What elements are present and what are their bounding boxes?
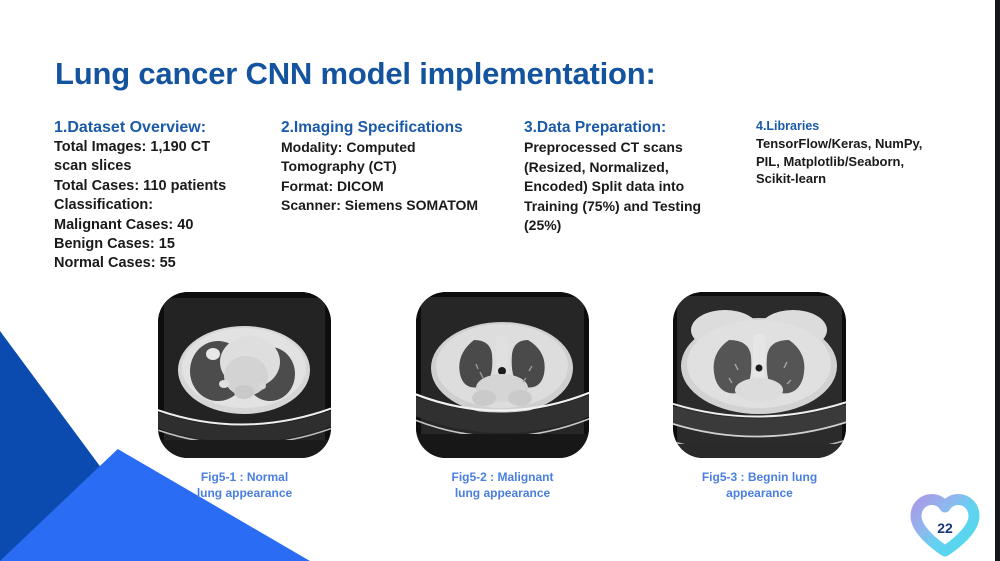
caption-line: Fig5-1 : Normal: [158, 470, 331, 486]
body-line: Total Images: 1,190 CT: [54, 138, 284, 157]
section-imaging-specifications: 2.Imaging Specifications Modality: Compu…: [281, 119, 516, 216]
decor-right-edge-band: [995, 0, 1000, 561]
section-libraries: 4.Libraries TensorFlow/Keras, NumPy, PIL…: [756, 119, 981, 188]
body-line: Benign Cases: 15: [54, 235, 284, 254]
body-line: Malignant Cases: 40: [54, 216, 284, 235]
body-line: Normal Cases: 55: [54, 254, 284, 273]
section-heading: 2.Imaging Specifications: [281, 119, 516, 137]
figure-benign: Fig5-3 : Begnin lung appearance: [673, 292, 846, 501]
body-line: Classification:: [54, 196, 284, 215]
body-line: PIL, Matplotlib/Seaborn,: [756, 153, 981, 171]
body-line: TensorFlow/Keras, NumPy,: [756, 135, 981, 153]
body-line: Tomography (CT): [281, 157, 516, 176]
body-line: Encoded) Split data into: [524, 177, 744, 197]
page-title: Lung cancer CNN model implementation:: [55, 56, 656, 92]
section-data-preparation: 3.Data Preparation: Preprocessed CT scan…: [524, 119, 744, 236]
body-line: Preprocessed CT scans: [524, 138, 744, 158]
ct-scan-image-benign: [673, 292, 846, 458]
caption-line: Fig5-3 : Begnin lung: [673, 470, 846, 486]
body-line: scan slices: [54, 157, 284, 176]
section-heading: 3.Data Preparation:: [524, 119, 744, 137]
section-body: TensorFlow/Keras, NumPy, PIL, Matplotlib…: [756, 135, 981, 188]
section-dataset-overview: 1.Dataset Overview: Total Images: 1,190 …: [54, 119, 284, 274]
ct-scan-image-normal: [158, 292, 331, 458]
body-line: Scikit-learn: [756, 170, 981, 188]
body-line: Modality: Computed: [281, 138, 516, 157]
section-heading: 1.Dataset Overview:: [54, 119, 284, 137]
section-body: Modality: Computed Tomography (CT) Forma…: [281, 138, 516, 216]
section-body: Preprocessed CT scans (Resized, Normaliz…: [524, 138, 744, 236]
figure-caption: Fig5-3 : Begnin lung appearance: [673, 470, 846, 501]
section-heading: 4.Libraries: [756, 119, 981, 133]
body-line: (Resized, Normalized,: [524, 158, 744, 178]
body-line: Format: DICOM: [281, 177, 516, 196]
figure-caption: Fig5-2 : Malignant lung appearance: [416, 470, 589, 501]
body-line: Scanner: Siemens SOMATOM: [281, 196, 516, 215]
figure-caption: Fig5-1 : Normal lung appearance: [158, 470, 331, 501]
body-line: Training (75%) and Testing: [524, 197, 744, 217]
section-body: Total Images: 1,190 CT scan slices Total…: [54, 138, 284, 274]
figure-normal: Fig5-1 : Normal lung appearance: [158, 292, 331, 501]
ct-scan-image-malignant: [416, 292, 589, 458]
page-number: 22: [908, 494, 982, 558]
body-line: (25%): [524, 216, 744, 236]
caption-line: appearance: [673, 486, 846, 502]
caption-line: Fig5-2 : Malignant: [416, 470, 589, 486]
slide-canvas: Lung cancer CNN model implementation: 1.…: [0, 0, 1000, 561]
caption-line: lung appearance: [416, 486, 589, 502]
figure-malignant: Fig5-2 : Malignant lung appearance: [416, 292, 589, 501]
heart-logo: 22: [908, 494, 982, 558]
body-line: Total Cases: 110 patients: [54, 177, 284, 196]
caption-line: lung appearance: [158, 486, 331, 502]
